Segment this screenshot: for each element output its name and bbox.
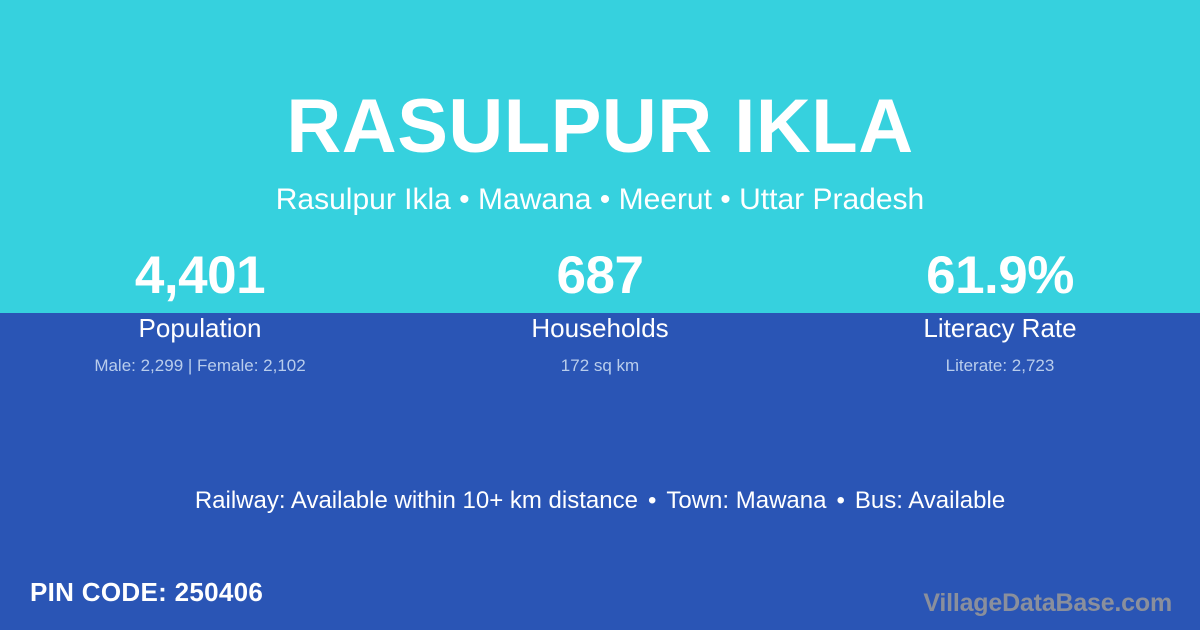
stat-value: 687 [400, 246, 800, 306]
info-railway: Railway: Available within 10+ km distanc… [195, 487, 638, 514]
stat-subtext: Male: 2,299 | Female: 2,102 [0, 355, 400, 377]
stat-subtext: Literate: 2,723 [800, 355, 1200, 377]
info-bus: Bus: Available [855, 487, 1005, 514]
stat-label: Population [0, 312, 400, 344]
stat-subtext: 172 sq km [400, 355, 800, 377]
stat-label: Households [400, 312, 800, 344]
amenities-info-line: Railway: Available within 10+ km distanc… [0, 486, 1200, 516]
pin-code: PIN CODE: 250406 [30, 576, 263, 608]
stat-value: 61.9% [800, 246, 1200, 306]
stat-households: 687 Households 172 sq km [400, 246, 800, 377]
stat-label: Literacy Rate [800, 312, 1200, 344]
village-info-card: RASULPUR IKLA Rasulpur Ikla • Mawana • M… [0, 0, 1200, 630]
stat-value: 4,401 [0, 246, 400, 306]
info-town: Town: Mawana [666, 487, 826, 514]
stats-row: 4,401 Population Male: 2,299 | Female: 2… [0, 246, 1200, 377]
bullet-separator-icon: • [638, 486, 666, 516]
stat-literacy-rate: 61.9% Literacy Rate Literate: 2,723 [800, 246, 1200, 377]
stat-population: 4,401 Population Male: 2,299 | Female: 2… [0, 246, 400, 377]
site-watermark: VillageDataBase.com [923, 588, 1172, 618]
page-title: RASULPUR IKLA [0, 84, 1200, 170]
bullet-separator-icon: • [826, 486, 854, 516]
breadcrumb: Rasulpur Ikla • Mawana • Meerut • Uttar … [0, 182, 1200, 218]
